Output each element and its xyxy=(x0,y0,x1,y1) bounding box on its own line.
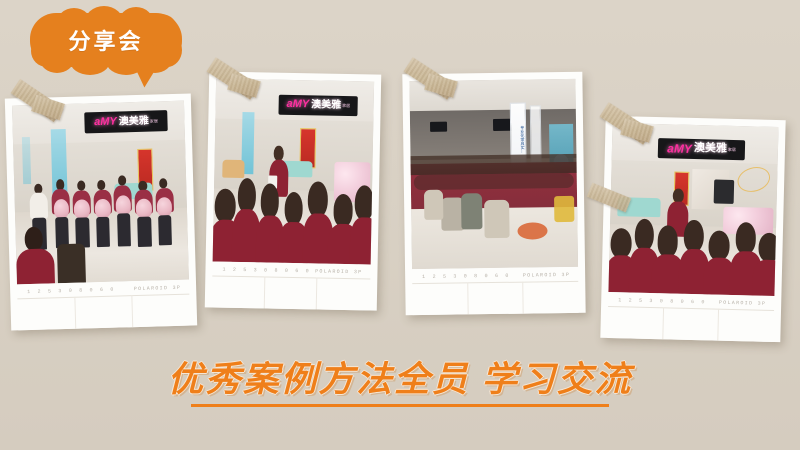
floor-decor xyxy=(518,222,548,239)
footer-divider xyxy=(717,309,719,341)
slide-canvas: 分享会 aMY 澳美雅 家居 xyxy=(0,0,800,450)
polaroid-footer-3: 1 2 5 3 0 8 0 6 0 POLAROID 3P xyxy=(412,267,579,315)
polaroid-brand: POLAROID 3P xyxy=(134,285,181,292)
store-sign-1: aMY 澳美雅 家居 xyxy=(84,110,167,134)
armchair xyxy=(222,159,244,178)
footer-divider xyxy=(264,276,266,308)
store-sign-chinese: 澳美雅 xyxy=(119,116,149,127)
badge-label: 分享会 xyxy=(30,13,182,67)
footer-divider xyxy=(662,307,664,339)
polaroid-photo-4[interactable]: aMY 澳美雅 家居 xyxy=(600,116,785,342)
polaroid-brand: POLAROID 3P xyxy=(523,272,570,279)
store-sign-suffix: 家居 xyxy=(342,104,350,108)
store-sign-4: aMY 澳美雅 家居 xyxy=(658,138,745,160)
footer-divider xyxy=(467,282,468,314)
polaroid-brand: POLAROID 3P xyxy=(719,300,766,307)
photo-image-4: aMY 澳美雅 家居 xyxy=(608,123,778,296)
polaroid-photo-1[interactable]: aMY 澳美雅 家居 xyxy=(5,93,197,330)
person-standing xyxy=(153,178,176,252)
footer-divider xyxy=(522,282,523,314)
sharing-session-badge: 分享会 xyxy=(30,13,182,83)
store-sign-latin: aMY xyxy=(667,142,692,155)
store-sign-2: aMY 澳美雅 家居 xyxy=(279,94,358,116)
footer-divider xyxy=(131,295,133,327)
page-title: 优秀案例方法全员 学习交流 xyxy=(161,362,638,402)
footer-divider xyxy=(74,297,76,329)
photo-image-3: 专业化家具实... xyxy=(409,79,578,269)
polaroid-serial: 1 2 5 3 0 8 0 6 0 xyxy=(222,267,311,275)
footer-divider xyxy=(608,306,774,311)
headline-underline xyxy=(191,404,609,407)
polaroid-photo-3[interactable]: 专业化家具实... 1 2 5 3 0 8 0 6 0 POLAROID 3P xyxy=(402,72,585,315)
audience-member xyxy=(350,185,374,264)
wall-niche xyxy=(714,180,734,204)
polaroid-brand: POLAROID 3P xyxy=(315,268,362,275)
audience-member xyxy=(753,233,779,296)
headline-block: 优秀案例方法全员 学习交流 xyxy=(0,362,800,407)
polaroid-serial: 1 2 5 3 0 8 0 6 0 xyxy=(422,273,510,280)
audience-heads-row xyxy=(410,154,576,175)
footer-divider xyxy=(412,281,578,284)
polaroid-photo-2[interactable]: aMY 澳美雅 家居 xyxy=(205,71,381,310)
polaroid-footer-1: 1 2 5 3 0 8 0 6 0 POLAROID 3P xyxy=(17,280,190,331)
polaroid-footer-2: 1 2 5 3 0 8 0 6 0 POLAROID 3P xyxy=(212,261,371,310)
photo-scene: aMY 澳美雅 家居 xyxy=(608,123,778,296)
store-sign-chinese: 澳美雅 xyxy=(311,100,341,111)
store-sign-suffix: 家居 xyxy=(150,119,158,123)
store-sign-suffix: 家居 xyxy=(728,147,736,151)
photo-scene: 专业化家具实... xyxy=(409,79,578,269)
chair xyxy=(461,193,483,229)
store-sign-latin: aMY xyxy=(286,99,309,110)
polaroid-serial: 1 2 5 3 0 8 0 6 0 xyxy=(618,297,707,305)
photo-image-1: aMY 澳美雅 家居 xyxy=(12,101,189,285)
store-sign-chinese: 澳美雅 xyxy=(694,143,727,155)
footer-divider xyxy=(212,275,370,279)
person-standing xyxy=(112,175,135,253)
chair xyxy=(424,190,443,220)
store-sign-far xyxy=(430,122,447,132)
polaroid-serial: 1 2 5 3 0 8 0 6 0 xyxy=(27,287,116,295)
light-panel xyxy=(21,137,31,184)
store-sign-latin: aMY xyxy=(94,117,117,129)
person-standing xyxy=(91,180,114,254)
photo-scene: aMY 澳美雅 家居 xyxy=(213,79,374,265)
audience-heads-row xyxy=(414,173,574,190)
photo-image-2: aMY 澳美雅 家居 xyxy=(213,79,374,265)
photo-scene: aMY 澳美雅 家居 xyxy=(12,101,189,285)
polaroid-footer-4: 1 2 5 3 0 8 0 6 0 POLAROID 3P xyxy=(607,292,774,342)
chair xyxy=(484,200,509,238)
stool xyxy=(554,195,574,222)
person-standing xyxy=(133,180,156,252)
footer-divider xyxy=(316,277,318,309)
